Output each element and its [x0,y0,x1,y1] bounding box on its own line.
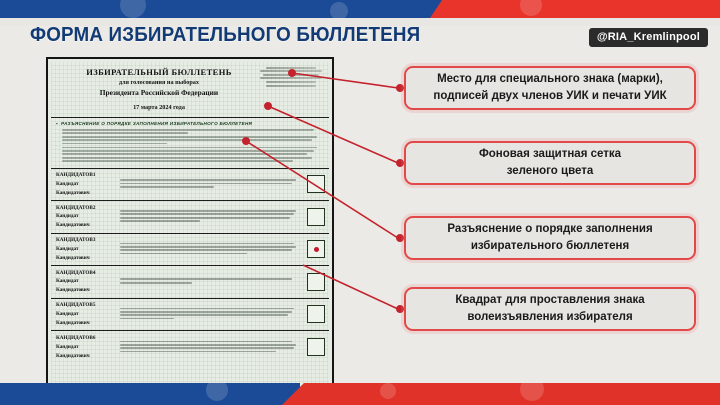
candidate-description-line [120,179,296,181]
candidate-row: КАНДИДАТОВ2КандидатКандидатович [51,201,329,234]
candidate-description [118,341,307,355]
explanation-paragraph [62,129,325,134]
ballot-document: ИЗБИРАТЕЛЬНЫЙ БЮЛЛЕТЕНЬ для голосования … [46,57,334,391]
callout-text: Разъяснение о порядке заполнения избират… [447,221,652,254]
candidate-description-line [120,249,292,251]
explanation-paragraph [62,157,325,162]
candidate-description-line [120,253,247,255]
ballot-stamp-area [257,65,325,99]
candidate-description [118,179,307,189]
callout-text: Квадрат для проставления знака волеизъяв… [455,292,644,325]
ballot-title-block: ИЗБИРАТЕЛЬНЫЙ БЮЛЛЕТЕНЬ для голосования … [59,67,259,111]
candidate-description [118,243,307,257]
candidate-name-line: КАНДИДАТОВ6 [56,334,118,343]
stamp-text-line [260,70,322,72]
callout-security-grid[interactable]: Фоновая защитная сетка зеленого цвета [404,141,696,185]
candidate-description-line [120,344,296,346]
candidate-name-line: КАНДИДАТОВ1 [56,171,118,180]
connector-endpoint-dot [397,85,403,91]
ballot-explanation-block: РАЗЪЯСНЕНИЕ О ПОРЯДКЕ ЗАПОЛНЕНИЯ ИЗБИРАТ… [51,118,329,169]
candidate-name-line: КАНДИДАТОВ2 [56,204,118,213]
ballot-title-line2: для голосования на выборах [59,79,259,86]
explanation-paragraph [62,147,325,155]
band-red-segment [430,0,720,18]
candidate-description-line [120,278,292,280]
candidate-row: КАНДИДАТОВ6КандидатКандидатович [51,331,329,364]
candidate-name: КАНДИДАТОВ3КандидатКандидатович [56,236,118,263]
candidate-description-line [120,213,294,215]
candidate-name-line: Кандидат [56,212,118,221]
stamp-text-line [260,77,322,79]
candidate-description-line [120,246,296,248]
candidate-description-line [120,311,292,313]
candidate-description-line [120,347,294,349]
candidate-description [118,210,307,224]
candidate-description-line [120,243,294,245]
connector-endpoint-dot [397,306,403,312]
candidate-name-line: КАНДИДАТОВ3 [56,236,118,245]
candidate-description-line [120,220,200,222]
candidate-row: КАНДИДАТОВ5КандидатКандидатович [51,299,329,332]
callout-explanation[interactable]: Разъяснение о порядке заполнения избират… [404,216,696,260]
ballot-title-line1: ИЗБИРАТЕЛЬНЫЙ БЮЛЛЕТЕНЬ [59,67,259,77]
callout-vote-square[interactable]: Квадрат для проставления знака волеизъяв… [404,287,696,331]
explanation-title: РАЗЪЯСНЕНИЕ О ПОРЯДКЕ ЗАПОЛНЕНИЯ ИЗБИРАТ… [56,121,325,126]
candidate-list: КАНДИДАТОВ1КандидатКандидатовичКАНДИДАТО… [51,169,329,364]
ballot-header: ИЗБИРАТЕЛЬНЫЙ БЮЛЛЕТЕНЬ для голосования … [51,62,329,118]
candidate-description-line [120,341,292,343]
callout-text: Место для специального знака (марки), по… [433,71,666,104]
candidate-name: КАНДИДАТОВ6КандидатКандидатович [56,334,118,361]
candidate-description-line [120,308,294,310]
candidate-description-line [120,210,296,212]
vote-checkbox[interactable] [307,175,325,193]
ballot-title-line3: Президента Российской Федерации [59,88,259,97]
ballot-date: 17 марта 2024 года [59,104,259,111]
top-flag-band [0,0,720,18]
callout-stamp-area[interactable]: Место для специального знака (марки), по… [404,66,696,110]
candidate-name: КАНДИДАТОВ1КандидатКандидатович [56,171,118,198]
candidate-description-line [120,314,288,316]
page-title: ФОРМА ИЗБИРАТЕЛЬНОГО БЮЛЛЕТЕНЯ [30,24,420,47]
candidate-description [118,278,307,285]
band-blue-segment [0,0,442,18]
candidate-name-line: КАНДИДАТОВ4 [56,269,118,278]
explanation-paragraph [62,136,325,144]
stamp-text-line [266,81,316,83]
candidate-name-line: Кандидат [56,310,118,319]
connector-endpoint-dot [397,160,403,166]
band-blue-segment [0,383,300,405]
stamp-text-line [266,85,316,87]
callout-text: Фоновая защитная сетка зеленого цвета [479,146,621,179]
candidate-name-line: Кандидат [56,277,118,286]
candidate-name-line: КАНДИДАТОВ5 [56,301,118,310]
bottom-flag-band [0,383,720,405]
candidate-row: КАНДИДАТОВ3КандидатКандидатович [51,234,329,267]
channel-handle-badge: @RIA_Kremlinpool [589,28,708,47]
ballot-security-grid: ИЗБИРАТЕЛЬНЫЙ БЮЛЛЕТЕНЬ для голосования … [51,62,329,386]
vote-checkbox[interactable] [307,208,325,226]
candidate-name-line: Кандидатович [56,286,118,295]
candidate-name-line: Кандидат [56,180,118,189]
candidate-name-line: Кандидатович [56,189,118,198]
candidate-name-line: Кандидатович [56,254,118,263]
stamp-text-line [266,67,316,69]
candidate-name-line: Кандидат [56,245,118,254]
vote-mark-dot [314,247,319,252]
candidate-row: КАНДИДАТОВ4КандидатКандидатович [51,266,329,299]
candidate-description-line [120,186,214,188]
vote-checkbox[interactable] [307,305,325,323]
connector-endpoint-dot [397,235,403,241]
candidate-row: КАНДИДАТОВ1КандидатКандидатович [51,169,329,202]
candidate-description-line [120,282,192,284]
candidate-description-line [120,318,174,320]
candidate-name-line: Кандидатович [56,221,118,230]
candidate-description [118,308,307,322]
candidate-name-line: Кандидатович [56,352,118,361]
candidate-name: КАНДИДАТОВ2КандидатКандидатович [56,204,118,231]
vote-checkbox[interactable] [307,240,325,258]
stamp-text-line [263,74,319,76]
candidate-description-line [120,183,292,185]
candidate-name: КАНДИДАТОВ5КандидатКандидатович [56,301,118,328]
vote-checkbox[interactable] [307,273,325,291]
band-red-segment [282,383,720,405]
candidate-description-line [120,217,290,219]
candidate-name-line: Кандидатович [56,319,118,328]
candidate-description-line [120,351,276,353]
candidate-name-line: Кандидат [56,343,118,352]
vote-checkbox[interactable] [307,338,325,356]
slide-canvas: RIA_Kremlinpool RIA_Kremlinpool RIA_Krem… [0,0,720,405]
decor-dot [380,383,396,399]
decor-dot [330,2,348,18]
candidate-name: КАНДИДАТОВ4КандидатКандидатович [56,269,118,296]
